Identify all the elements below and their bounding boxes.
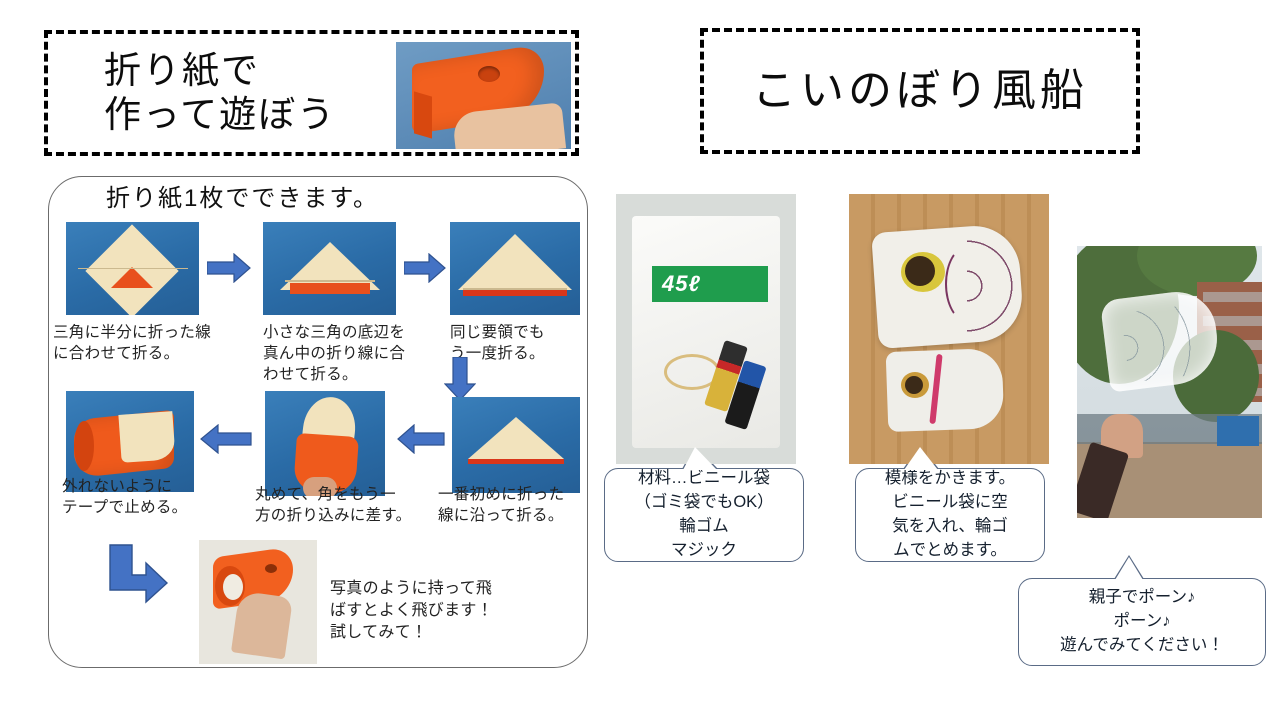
materials-callout-text: 材料…ビニール袋 （ゴミ袋でもOK） 輪ゴム マジック bbox=[615, 467, 793, 563]
step-4-photo bbox=[452, 397, 580, 493]
materials-callout-tail bbox=[683, 447, 717, 470]
title-craft-photo bbox=[396, 42, 571, 149]
drawing-callout: 模様をかきます。 ビニール袋に空 気を入れ、輪ゴ ムでとめます。 bbox=[855, 468, 1045, 562]
step-2-caption: 小さな三角の底辺を 真ん中の折り線に合 わせて折る。 bbox=[263, 322, 443, 385]
koi-small-pupil bbox=[905, 376, 923, 394]
title-box-left: 折り紙で 作って遊ぼう bbox=[44, 30, 579, 156]
play-callout-text: 親子でポーン♪ ポーン♪ 遊んでみてください！ bbox=[1029, 586, 1255, 658]
step-2-photo bbox=[263, 222, 396, 315]
arrow-step6-to-final bbox=[104, 543, 170, 605]
arrow-step5-to-step6 bbox=[200, 424, 252, 454]
arrow-step4-to-step5 bbox=[397, 424, 445, 454]
drawing-callout-tail bbox=[904, 447, 938, 470]
arrow-step2-to-step3 bbox=[404, 253, 446, 283]
koinobori-bags-photo bbox=[849, 194, 1049, 464]
title-left-text: 折り紙で 作って遊ぼう bbox=[58, 49, 336, 136]
step-5-caption: 丸めて、角をもう一 方の折り込みに差す。 bbox=[255, 484, 440, 526]
play-callout-tail bbox=[1115, 557, 1143, 580]
outdoor-play-photo bbox=[1077, 246, 1262, 518]
bag-size-label: 45ℓ bbox=[652, 266, 768, 302]
arrow-step1-to-step2 bbox=[207, 253, 251, 283]
step-1-photo bbox=[66, 222, 199, 315]
poster-canvas: 折り紙で 作って遊ぼう こいのぼり風船 折り紙1枚でできます。 三角に半分に折っ… bbox=[0, 0, 1280, 720]
step-6-caption: 外れないように テープで止める。 bbox=[62, 476, 222, 518]
drawing-callout-text: 模様をかきます。 ビニール袋に空 気を入れ、輪ゴ ムでとめます。 bbox=[866, 467, 1034, 563]
origami-heading: 折り紙1枚でできます。 bbox=[100, 178, 385, 213]
blue-bin bbox=[1217, 416, 1259, 446]
step-4-caption: 一番初めに折った 線に沿って折る。 bbox=[438, 484, 588, 526]
arrow-step3-to-step4 bbox=[444, 357, 476, 401]
play-callout: 親子でポーン♪ ポーン♪ 遊んでみてください！ bbox=[1018, 578, 1266, 666]
step-5-photo bbox=[265, 391, 385, 496]
koi-large-eye-pupil bbox=[905, 256, 935, 286]
materials-callout: 材料…ビニール袋 （ゴミ袋でもOK） 輪ゴム マジック bbox=[604, 468, 804, 562]
materials-photo: 45ℓ bbox=[616, 194, 796, 464]
step-1-caption: 三角に半分に折った線 に合わせて折る。 bbox=[53, 322, 243, 364]
final-craft-photo bbox=[199, 540, 317, 664]
step-3-photo bbox=[450, 222, 580, 315]
title-box-right: こいのぼり風船 bbox=[700, 28, 1140, 154]
balloon-scales bbox=[1121, 303, 1211, 382]
final-caption: 写真のように持って飛 ばすとよく飛びます！ 試してみて！ bbox=[330, 578, 540, 643]
koi-large-scales bbox=[967, 238, 1013, 334]
title-right-text: こいのぼり風船 bbox=[752, 65, 1088, 117]
